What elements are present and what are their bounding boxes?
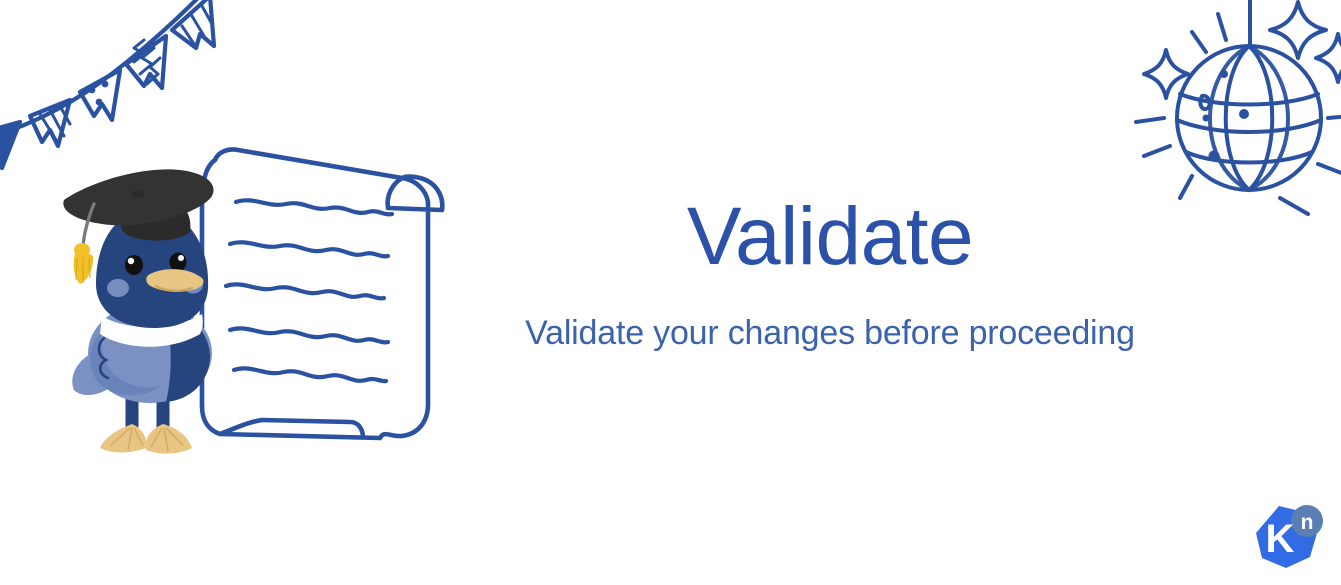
logo-letter-k: K bbox=[1266, 517, 1295, 561]
graduate-bird-with-scroll-illustration bbox=[50, 138, 470, 468]
logo-letter-n: n bbox=[1301, 511, 1314, 534]
text-block: Validate Validate your changes before pr… bbox=[470, 196, 1190, 353]
brand-logo: K n bbox=[1248, 500, 1330, 578]
slide-canvas: Validate Validate your changes before pr… bbox=[0, 0, 1341, 585]
bird-mascot bbox=[63, 169, 213, 453]
scroll-text-lines bbox=[226, 200, 392, 381]
disco-ball-decoration bbox=[1122, 0, 1341, 228]
page-subtitle: Validate your changes before proceeding bbox=[470, 314, 1190, 353]
page-title: Validate bbox=[470, 196, 1190, 278]
